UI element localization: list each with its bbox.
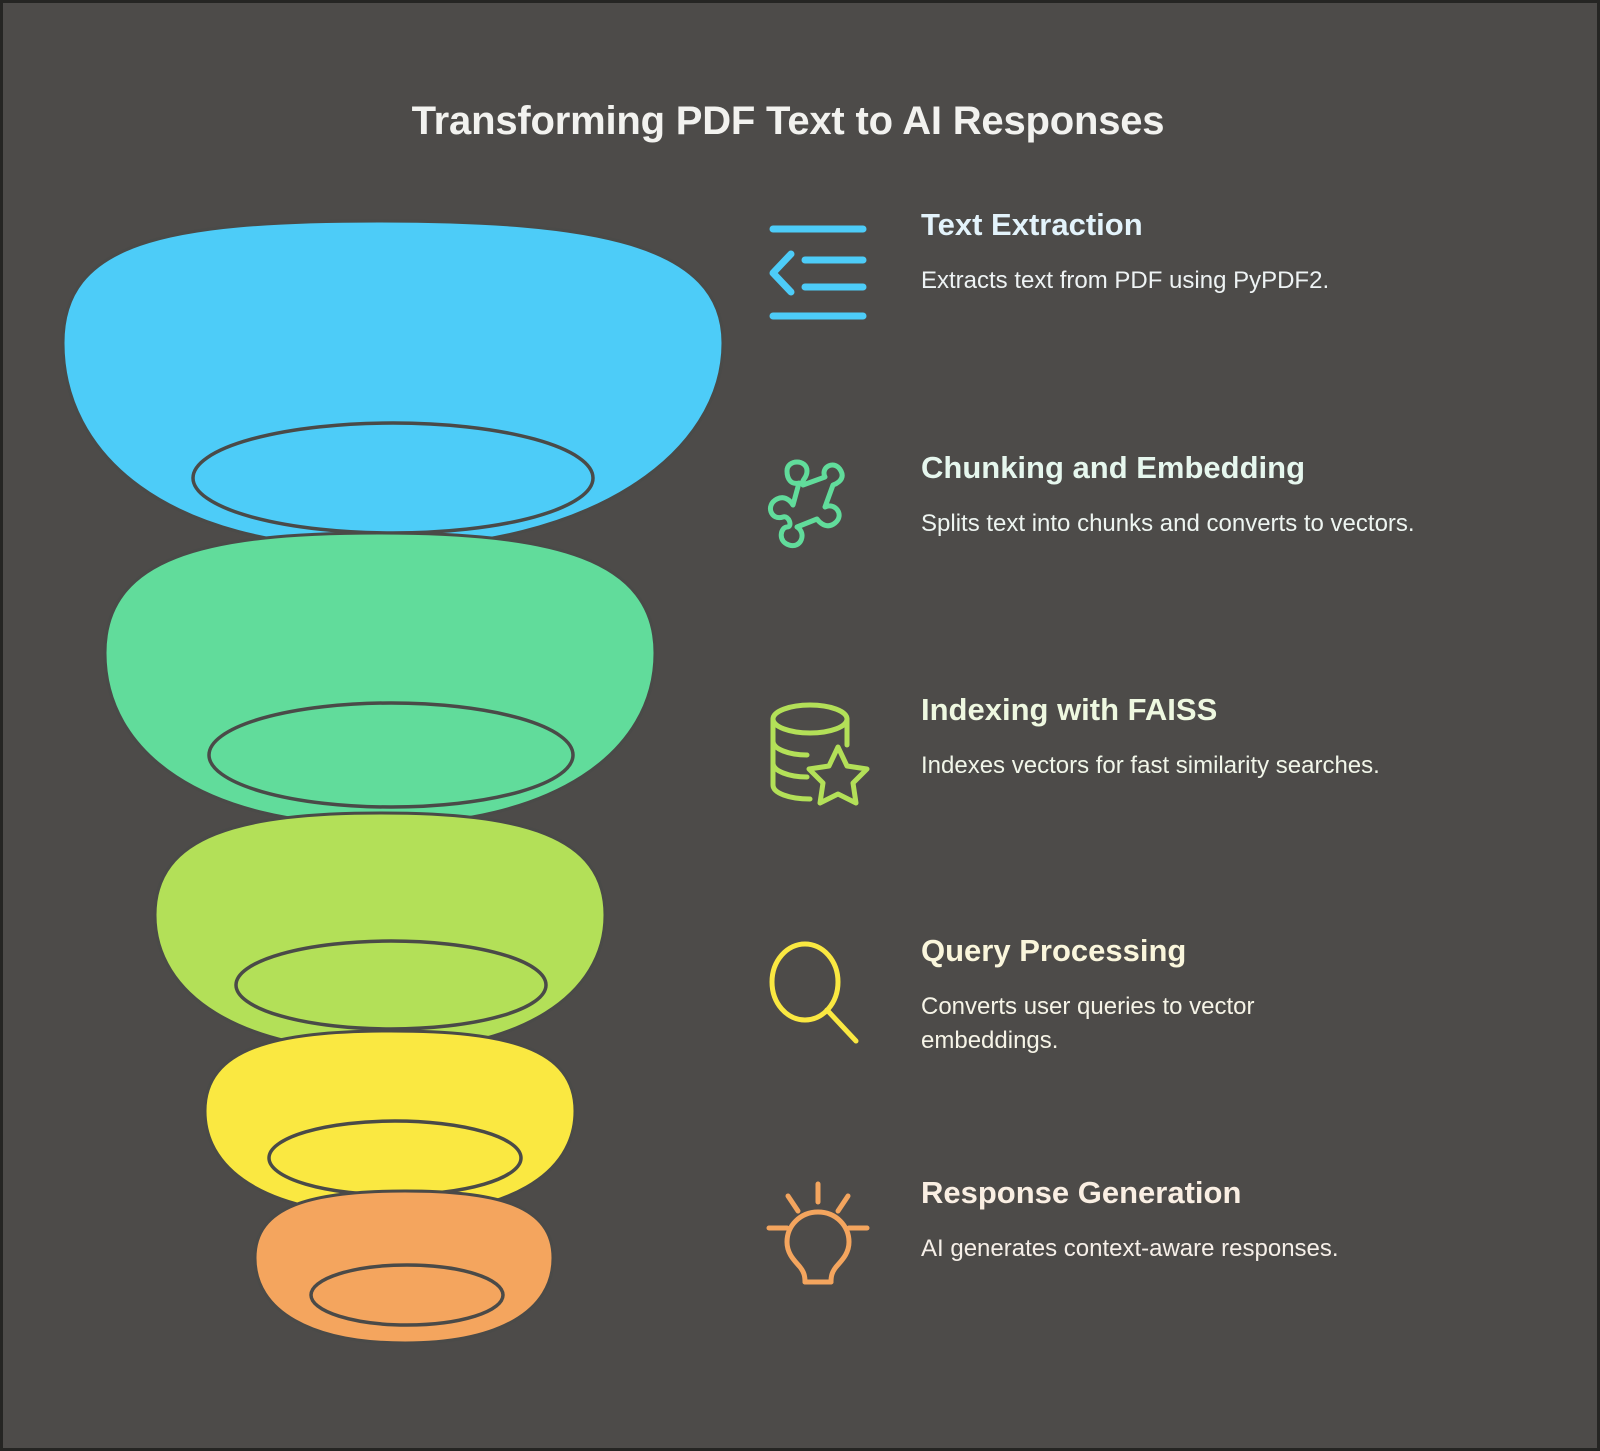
step-title: Response Generation: [921, 1176, 1553, 1210]
step-description: Splits text into chunks and converts to …: [921, 507, 1441, 541]
step-description: Indexes vectors for fast similarity sear…: [921, 749, 1553, 783]
step-indexing-with-faiss[interactable]: Indexing with FAISS Indexes vectors for …: [763, 693, 1553, 807]
page-title: Transforming PDF Text to AI Responses: [3, 99, 1573, 144]
lightbulb-icon: [763, 1176, 883, 1290]
step-body: Query Processing Converts user queries t…: [883, 934, 1553, 1058]
funnel-layer-response-generation: [255, 1191, 553, 1343]
funnel-diagram: [33, 203, 753, 1343]
document-lines-chevron-icon: [763, 208, 883, 322]
step-description: Extracts text from PDF using PyPDF2.: [921, 264, 1553, 298]
step-body: Indexing with FAISS Indexes vectors for …: [883, 693, 1553, 783]
funnel-layer-text-extraction: [63, 221, 723, 548]
step-description: Converts user queries to vector embeddin…: [921, 990, 1371, 1058]
step-text-extraction[interactable]: Text Extraction Extracts text from PDF u…: [763, 208, 1553, 322]
funnel-layer-indexing-faiss: [155, 813, 605, 1051]
step-title: Query Processing: [921, 934, 1553, 968]
step-title: Chunking and Embedding: [921, 451, 1553, 485]
step-description: AI generates context-aware responses.: [921, 1232, 1553, 1266]
step-title: Indexing with FAISS: [921, 693, 1553, 727]
step-body: Response Generation AI generates context…: [883, 1176, 1553, 1266]
step-query-processing[interactable]: Query Processing Converts user queries t…: [763, 934, 1553, 1058]
step-title: Text Extraction: [921, 208, 1553, 242]
magnifier-icon: [763, 934, 883, 1048]
funnel-layer-query-processing: [205, 1031, 575, 1215]
step-response-generation[interactable]: Response Generation AI generates context…: [763, 1176, 1553, 1290]
infographic-canvas: Transforming PDF Text to AI Responses: [0, 0, 1600, 1451]
step-body: Text Extraction Extracts text from PDF u…: [883, 208, 1553, 298]
step-body: Chunking and Embedding Splits text into …: [883, 451, 1553, 541]
database-star-icon: [763, 693, 883, 807]
step-chunking-and-embedding[interactable]: Chunking and Embedding Splits text into …: [763, 451, 1553, 565]
funnel-layer-chunking-embedding: [105, 533, 655, 825]
puzzle-piece-icon: [763, 451, 883, 565]
